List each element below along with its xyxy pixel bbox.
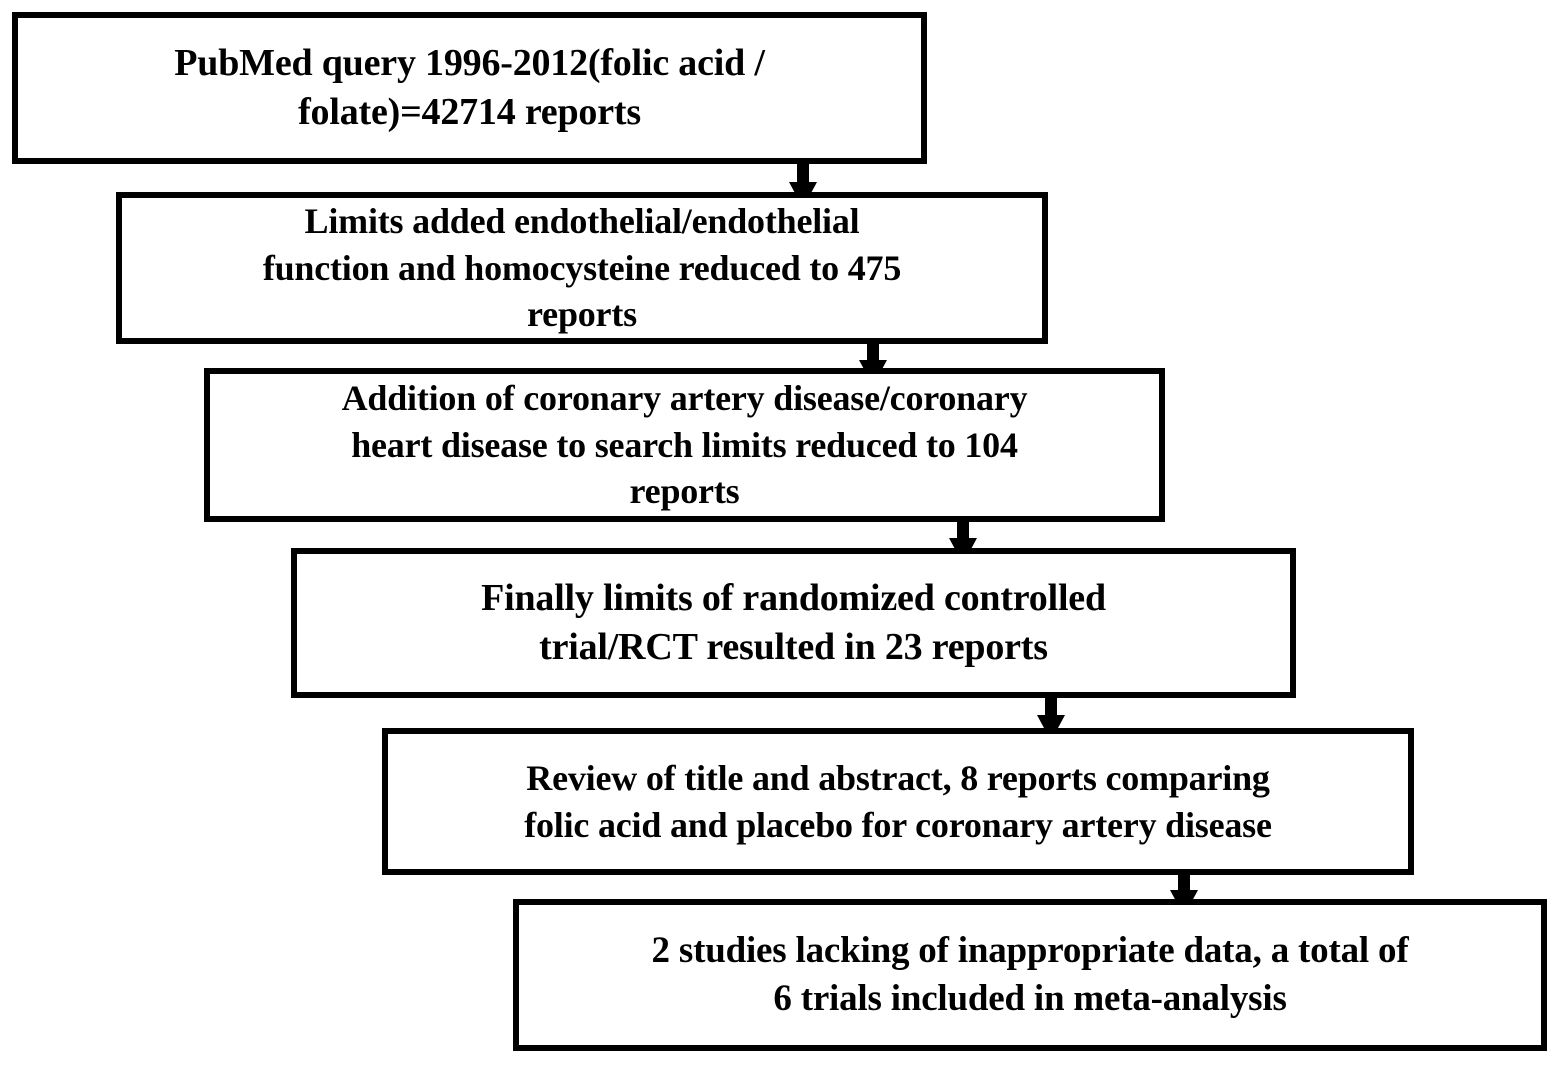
- limits-endothelial-box-label: Limits added endothelial/endothelial fun…: [253, 198, 911, 338]
- randomized-controlled-trial-box: Finally limits of randomized controlled …: [291, 548, 1296, 698]
- title-abstract-review-box: Review of title and abstract, 8 reports …: [382, 728, 1414, 875]
- coronary-artery-disease-box: Addition of coronary artery disease/coro…: [204, 368, 1165, 522]
- title-abstract-review-box-label: Review of title and abstract, 8 reports …: [514, 755, 1282, 849]
- final-included-trials-box-label: 2 studies lacking of inappropriate data,…: [642, 927, 1419, 1023]
- randomized-controlled-trial-box-label: Finally limits of randomized controlled …: [471, 574, 1116, 673]
- pubmed-query-box: PubMed query 1996-2012(folic acid / fola…: [12, 12, 927, 164]
- pubmed-query-box-label: PubMed query 1996-2012(folic acid / fola…: [164, 39, 774, 138]
- flowchart-canvas: PubMed query 1996-2012(folic acid / fola…: [0, 0, 1559, 1068]
- coronary-artery-disease-box-label: Addition of coronary artery disease/coro…: [332, 375, 1038, 515]
- final-included-trials-box: 2 studies lacking of inappropriate data,…: [513, 899, 1547, 1051]
- limits-endothelial-box: Limits added endothelial/endothelial fun…: [116, 192, 1048, 344]
